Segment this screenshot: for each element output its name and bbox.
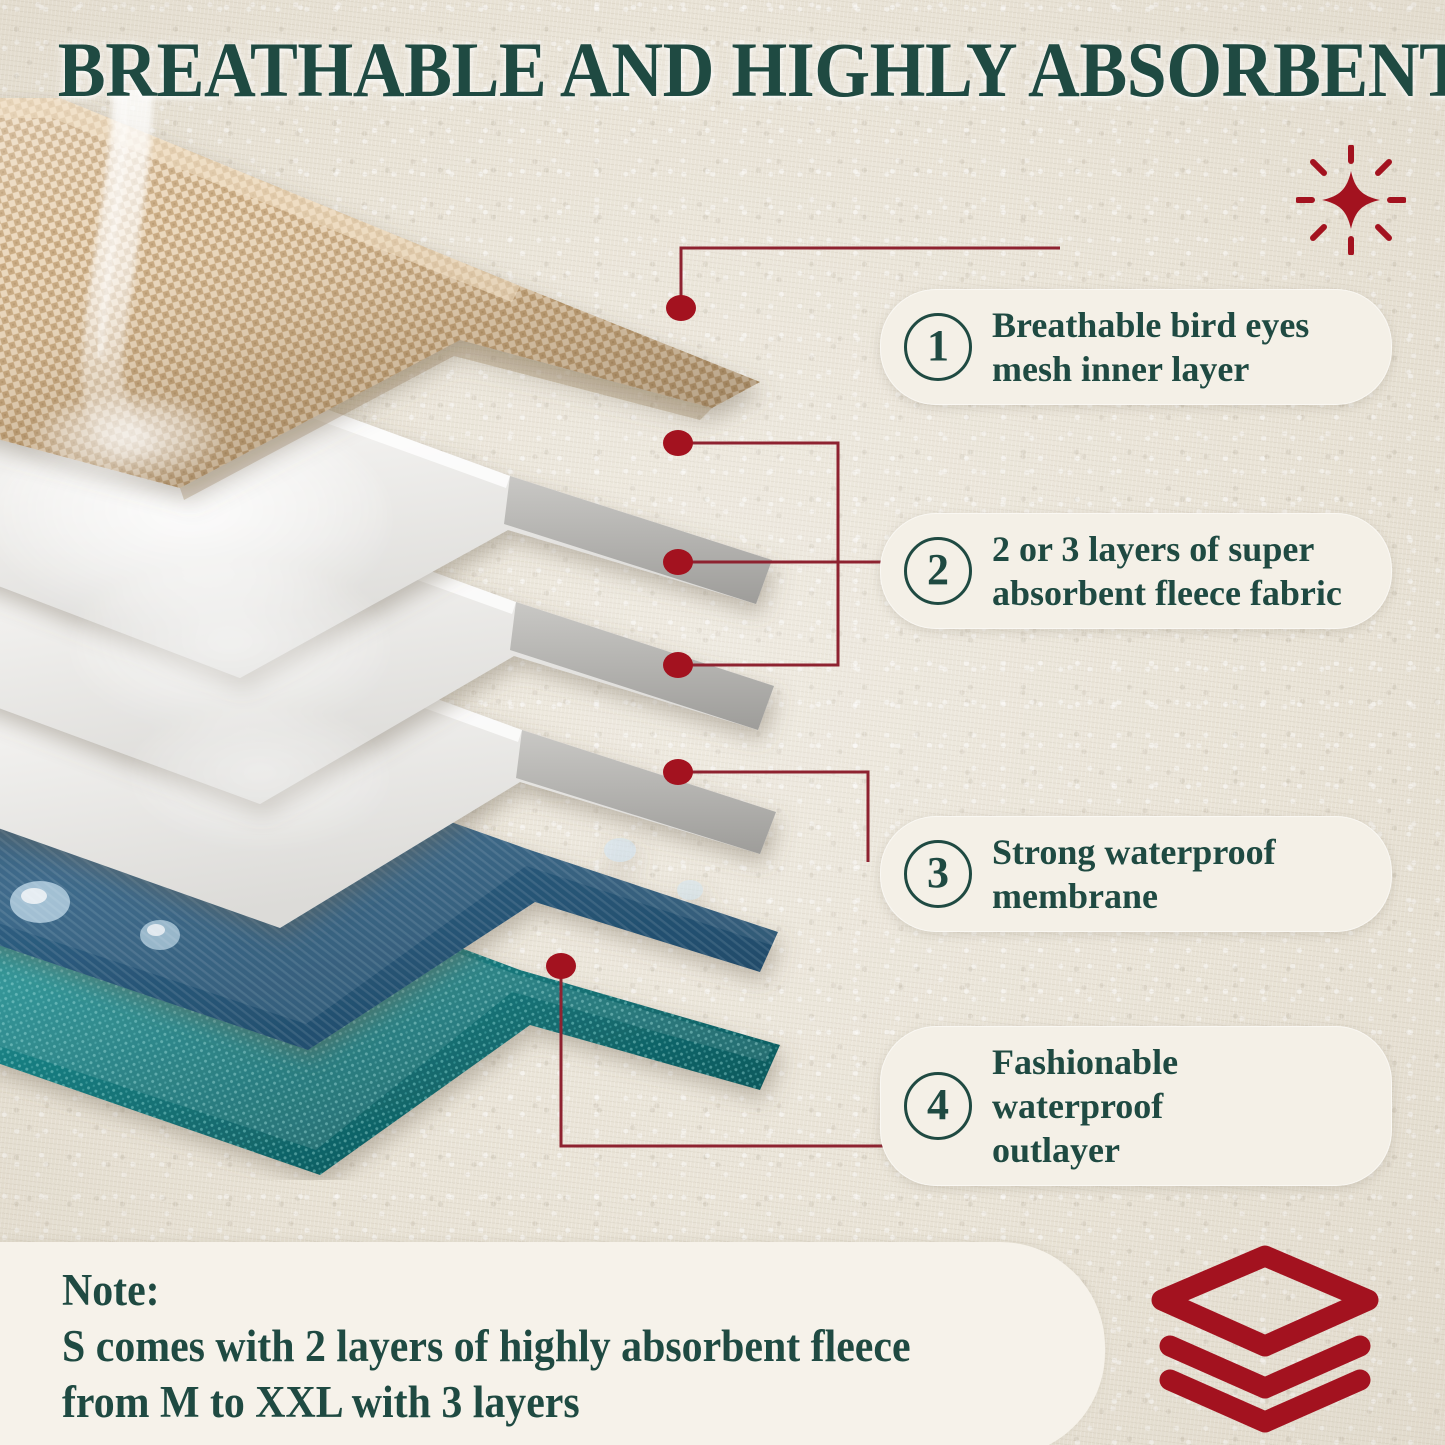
callout-4-label: Fashionable waterproof outlayer [992, 1040, 1358, 1172]
infographic-page: BREATHABLE AND HIGHLY ABSORBENT [0, 0, 1445, 1445]
note-text: Note: S comes with 2 layers of highly ab… [62, 1262, 1020, 1430]
callout-2: 2 2 or 3 layers of super absorbent fleec… [880, 513, 1392, 629]
fabric-layer-cross-section-image [0, 90, 820, 1180]
callout-1: 1 Breathable bird eyes mesh inner layer [880, 289, 1392, 405]
page-title: BREATHABLE AND HIGHLY ABSORBENT [58, 28, 1387, 112]
callout-2-label: 2 or 3 layers of super absorbent fleece … [992, 527, 1342, 615]
callout-4: 4 Fashionable waterproof outlayer [880, 1026, 1392, 1186]
callout-2-number: 2 [904, 537, 972, 605]
callout-3-label: Strong waterproof membrane [992, 830, 1276, 918]
callout-3-number: 3 [904, 840, 972, 908]
callout-1-label: Breathable bird eyes mesh inner layer [992, 303, 1309, 391]
layers-stack-icon [1140, 1238, 1390, 1438]
callout-1-number: 1 [904, 313, 972, 381]
sparkle-icon [1296, 145, 1406, 255]
callout-3: 3 Strong waterproof membrane [880, 816, 1392, 932]
callout-4-number: 4 [904, 1072, 972, 1140]
